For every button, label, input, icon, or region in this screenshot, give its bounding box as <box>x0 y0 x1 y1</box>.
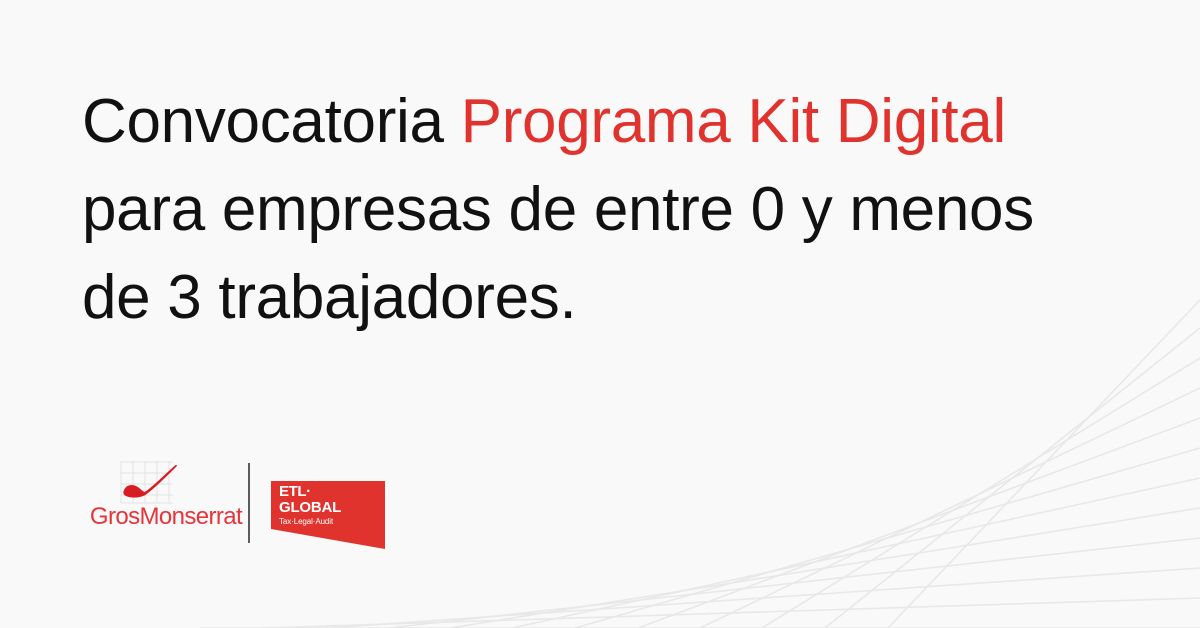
poster-canvas: Convocatoria Programa Kit Digital para e… <box>0 0 1200 628</box>
red-swoosh-on-grid-icon <box>113 459 181 505</box>
etl-global-logo[interactable]: ETL· GLOBAL Tax·Legal·Audit <box>271 481 385 549</box>
headline-segment-1: Convocatoria <box>82 87 461 156</box>
etl-line-1: ETL· <box>279 484 341 499</box>
vertical-divider-icon <box>248 463 250 543</box>
logo-lockup: GrosMonserrat ETL· GLOBAL Tax·Legal·Audi… <box>80 455 410 555</box>
grosmonserrat-wordmark: GrosMonserrat <box>80 503 252 531</box>
grosmonserrat-logo[interactable]: GrosMonserrat <box>80 455 252 540</box>
headline-accent: Programa Kit Digital <box>461 87 1006 156</box>
etl-global-text: ETL· GLOBAL Tax·Legal·Audit <box>279 484 341 527</box>
etl-line-2: GLOBAL <box>279 500 341 516</box>
etl-line-3: Tax·Legal·Audit <box>279 517 341 527</box>
page-title: Convocatoria Programa Kit Digital para e… <box>82 78 1082 342</box>
